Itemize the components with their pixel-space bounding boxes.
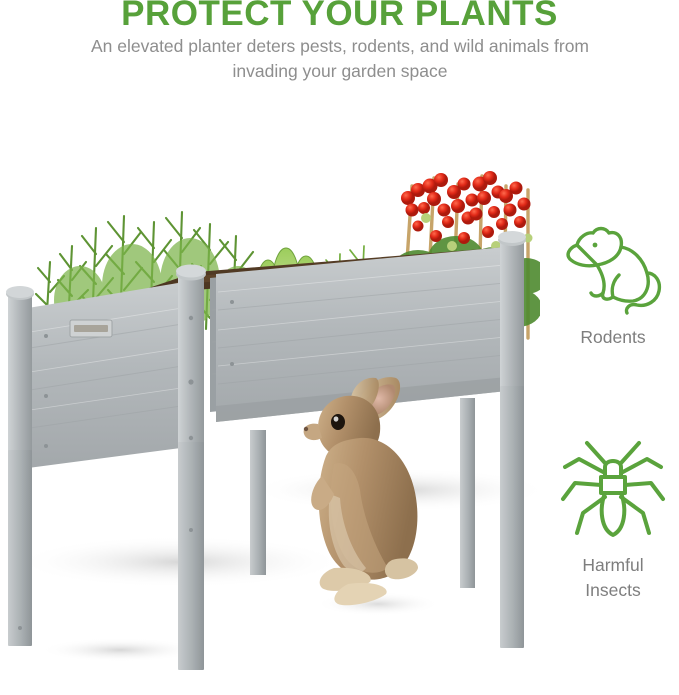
feature-label-insects-line2: Insects [548,578,678,603]
front-panel-left [28,280,196,468]
marketing-image: PROTECT YOUR PLANTS An elevated planter … [0,0,679,695]
corner-post-front-left [6,286,34,472]
leg-back-left [250,430,266,575]
corner-post-middle [176,265,206,463]
insect-icon [559,437,667,543]
feature-rodents: Rodents [548,215,678,350]
leg-front-middle [178,442,204,670]
feature-label-insects: Harmful Insects [548,553,678,603]
rabbit-body [319,438,418,580]
brand-nameplate [70,320,112,337]
feature-label-insects-line1: Harmful [548,553,678,578]
page-title: PROTECT YOUR PLANTS [0,0,679,34]
leg-front-left [8,450,32,646]
corner-post-right [498,231,526,398]
feature-insects: Harmful Insects [548,437,678,603]
rabbit-nose [304,427,308,431]
rodent-eye-icon [593,243,598,248]
rabbit [300,372,480,617]
page-subtitle: An elevated planter deters pests, rodent… [60,34,620,84]
rabbit-eye [331,414,345,430]
leg-front-right [500,386,524,648]
rodent-icon [559,215,667,315]
feature-label-rodents: Rodents [548,325,678,350]
